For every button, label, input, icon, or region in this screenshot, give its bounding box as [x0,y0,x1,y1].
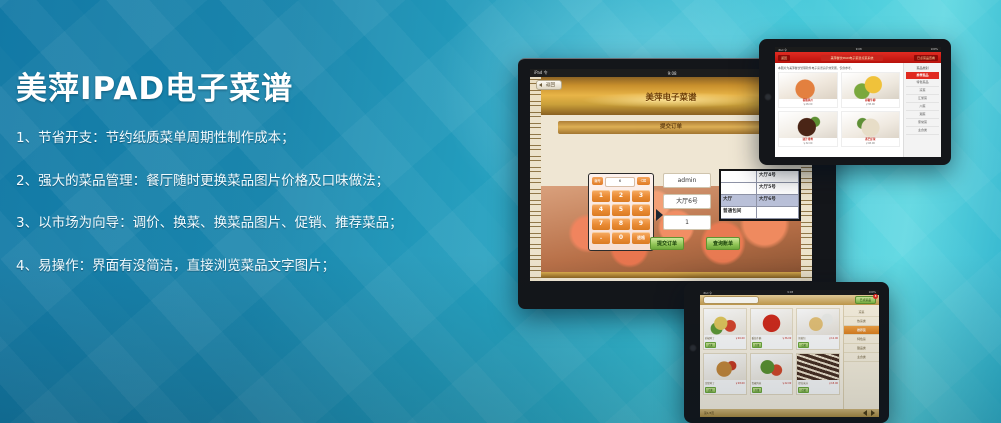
dish-card[interactable]: 彩椒鸡丁 ￥26.00 点菜 [703,308,747,350]
br-category-item-0[interactable]: 凉菜 [844,308,879,317]
br-category-item-3[interactable]: 特色菜 [844,335,879,344]
key-3[interactable]: 3 [632,190,650,202]
main-tablet-device: iPad 令 9:08 100% 返回 美萍电子菜谱 提交订单 编号 6 [518,58,836,309]
add-dish-button[interactable]: 点菜 [798,387,809,393]
add-dish-button[interactable]: 点菜 [705,342,716,348]
dish-image [751,354,793,380]
table-row-name[interactable]: 大厅4号 [757,171,799,183]
cart-label: 已点菜品 [860,298,871,302]
dish-card[interactable]: 提拉米苏 ￥18.00 点菜 [796,353,840,395]
home-button[interactable] [689,344,697,352]
key-dot[interactable]: . [592,232,610,244]
dish-price: ￥18.00 [829,381,838,385]
pointer-arrow-icon [656,209,663,221]
add-dish-button[interactable]: 点菜 [705,387,716,393]
tr-content: 本图片为美萍餐饮管理软件电子菜谱演示效果图，仅供参考。 香辣凤爪 ￥28.00 … [775,63,941,157]
dish-name: 番茄牛腩 [752,336,762,340]
dish-price: ￥32.00 [779,142,837,146]
app-title: 美萍电子菜谱 [530,91,812,103]
tr-category-item-6[interactable]: 家常菜 [906,119,939,127]
tr-dish-grid: 香辣凤爪 ￥28.00 彩椒牛柳 ￥38.00 豉汁排骨 ￥32.00 [778,72,900,147]
tr-note-text: 本图片为美萍餐饮管理软件电子菜谱演示效果图，仅供参考。 [778,66,900,70]
br-pager-bar: 第1/3页 [700,409,879,417]
dish-card[interactable]: 青椒肉丝 ￥22.00 点菜 [750,353,794,395]
cart-badge: 3 [873,294,878,299]
dish-action-row: 点菜 [751,386,793,394]
dish-image [842,112,900,138]
key-9[interactable]: 9 [632,218,650,230]
table-row-name[interactable]: 大厅5号 [757,183,799,195]
keypad-grid: 1 2 3 4 5 6 7 8 9 . 0 退格 [592,190,650,244]
br-dish-area: 彩椒鸡丁 ￥26.00 点菜 番茄牛腩 ￥36.00 [700,305,843,410]
dish-action-row: 点菜 [751,341,793,349]
tr-category-item-7[interactable]: 主食类 [906,127,939,135]
sub-header-label: 提交订单 [558,121,784,134]
dish-action-row: 点菜 [797,386,839,394]
br-category-sidebar: 凉菜 热菜类 推荐菜 特色菜 甜品类 主食类 [843,305,879,410]
dish-image [704,354,746,380]
tr-dish-area: 本图片为美萍餐饮管理软件电子菜谱演示效果图，仅供参考。 香辣凤爪 ￥28.00 … [775,63,903,157]
tr-category-item-0[interactable]: 推荐菜品 [906,72,939,79]
next-page-icon[interactable] [871,410,875,416]
status-battery: 100% [931,48,938,51]
photo-frame-bottom [541,272,801,278]
table-selection-grid[interactable]: 大厅4号 大厅5号 大厅 大厅6号 普通包间 [719,169,801,221]
br-toolbar: 已点菜品 3 [700,295,879,305]
add-dish-button[interactable]: 点菜 [752,342,763,348]
dish-image [842,73,900,99]
keypad-label: 编号 [592,177,603,185]
tr-category-item-1[interactable]: 特色菜品 [906,79,939,87]
tr-category-sidebar: 菜品类别 推荐菜品 特色菜品 凉菜 江浙菜 川菜 湘菜 家常菜 主食类 [903,63,941,157]
status-carrier: iPad 令 [534,70,548,76]
key-0[interactable]: 0 [612,232,630,244]
feature-bullet-2: 2、强大的菜品管理：餐厅随时更换菜品图片价格及口味做法； [16,175,436,189]
dish-image [751,309,793,335]
status-carrier: iPad 令 [778,48,787,52]
dish-image [704,309,746,335]
table-field[interactable]: 大厅6号 [663,194,711,209]
tr-category-item-3[interactable]: 江浙菜 [906,95,939,103]
user-field[interactable]: admin [663,173,711,188]
dish-price: ￥22.00 [782,381,791,385]
count-field[interactable]: 1 [663,215,711,230]
dish-card[interactable]: 奶黄包 ￥12.00 点菜 [796,308,840,350]
search-input[interactable] [703,296,759,304]
dish-name: 彩椒鸡丁 [705,336,715,340]
dish-price: ￥38.00 [842,103,900,107]
status-time: 9:08 [668,71,677,76]
action-buttons: 提交订单 查询账单 [650,237,800,250]
dish-card[interactable]: 宫保鸡丁 ￥28.00 点菜 [703,353,747,395]
dish-image [797,354,839,380]
key-1[interactable]: 1 [592,190,610,202]
table-row-area[interactable] [721,183,757,195]
add-dish-button[interactable]: 点菜 [798,342,809,348]
key-4[interactable]: 4 [592,204,610,216]
dish-price: ￥12.00 [829,336,838,340]
key-5[interactable]: 5 [612,204,630,216]
tr-category-item-5[interactable]: 湘菜 [906,111,939,119]
banner-stage: 美萍IPAD电子菜谱 1、节省开支：节约纸质菜单周期性制作成本； 2、强大的菜品… [0,0,1001,423]
br-content: 彩椒鸡丁 ￥26.00 点菜 番茄牛腩 ￥36.00 [700,305,879,410]
dish-action-row: 点菜 [704,341,746,349]
dish-price: ￥36.00 [782,336,791,340]
status-time: 9:08 [787,291,793,294]
tr-header-bar: 返回 美萍餐饮IPAD电子菜谱点菜系统 已点菜品查看 [775,52,941,63]
greek-key-border-left [530,77,541,281]
key-backspace[interactable]: 退格 [632,232,650,244]
dish-card[interactable]: 香芒虾球 ￥48.00 [841,111,901,147]
bottom-right-tablet-device: iPad 令 9:08 100% 已点菜品 3 彩椒鸡丁 [684,282,889,423]
br-category-item-1[interactable]: 热菜类 [844,317,879,326]
table-row-area[interactable]: 大厅 [721,195,757,207]
prev-page-icon[interactable] [863,410,867,416]
tr-sidebar-title: 菜品类别 [906,66,939,70]
key-8[interactable]: 8 [612,218,630,230]
main-tablet-screen: iPad 令 9:08 100% 返回 美萍电子菜谱 提交订单 编号 6 [530,69,812,281]
bottom-right-tablet-screen: iPad 令 9:08 100% 已点菜品 3 彩椒鸡丁 [700,290,879,417]
br-category-item-5[interactable]: 主食类 [844,353,879,362]
add-dish-button[interactable]: 点菜 [752,387,763,393]
br-category-item-2[interactable]: 推荐菜 [844,326,879,335]
br-dish-grid: 彩椒鸡丁 ￥26.00 点菜 番茄牛腩 ￥36.00 [703,308,840,395]
table-row-area[interactable]: 普通包间 [721,207,757,219]
dish-image [797,309,839,335]
status-time: 9:08 [856,48,862,51]
dish-card[interactable]: 彩椒牛柳 ￥38.00 [841,72,901,108]
numeric-keypad[interactable]: 编号 6 ⌫ 1 2 3 4 5 6 7 8 9 . [588,173,654,251]
submit-order-button[interactable]: 提交订单 [650,237,684,250]
tr-category-item-4[interactable]: 川菜 [906,103,939,111]
dish-name: 宫保鸡丁 [705,381,715,385]
marketing-copy: 美萍IPAD电子菜谱 1、节省开支：节约纸质菜单周期性制作成本； 2、强大的菜品… [16,72,436,302]
dish-price: ￥28.00 [735,381,744,385]
key-7[interactable]: 7 [592,218,610,230]
table-row-name[interactable] [757,207,799,219]
dish-price: ￥26.00 [735,336,744,340]
page-indicator: 第1/3页 [704,411,714,415]
dish-action-row: 点菜 [704,386,746,394]
keypad-input[interactable]: 6 [605,177,635,187]
table-row-area[interactable] [721,171,757,183]
key-2[interactable]: 2 [612,190,630,202]
back-button[interactable]: 返回 [536,80,562,90]
br-category-item-4[interactable]: 甜品类 [844,344,879,353]
tr-ordered-button[interactable]: 已点菜品查看 [914,55,938,61]
dish-name: 奶黄包 [798,336,805,340]
status-carrier: iPad 令 [703,291,712,295]
dish-action-row: 点菜 [797,341,839,349]
table-row-name[interactable]: 大厅6号 [757,195,799,207]
tr-back-button[interactable]: 返回 [778,55,790,61]
dish-card[interactable]: 豉汁排骨 ￥32.00 [778,111,838,147]
tr-category-item-2[interactable]: 凉菜 [906,87,939,95]
feature-bullet-3: 3、以市场为向导：调价、换菜、换菜品图片、促销、推荐菜品； [16,217,436,231]
dish-image [779,112,837,138]
dish-name: 青椒肉丝 [752,381,762,385]
page-title: 美萍IPAD电子菜谱 [16,72,436,106]
dish-name: 提拉米苏 [798,381,808,385]
feature-bullet-4: 4、易操作：界面有没简洁，直接浏览菜品文字图片； [16,260,436,274]
query-bill-button[interactable]: 查询账单 [706,237,740,250]
keypad-input-row: 编号 6 ⌫ [592,177,650,187]
key-6[interactable]: 6 [632,204,650,216]
dish-card[interactable]: 番茄牛腩 ￥36.00 点菜 [750,308,794,350]
dish-price: ￥28.00 [779,103,837,107]
sub-header-bar: 提交订单 [558,121,784,134]
dish-price: ￥48.00 [842,142,900,146]
cart-button[interactable]: 已点菜品 3 [855,296,876,304]
keypad-delete-icon[interactable]: ⌫ [637,177,650,185]
tr-header-title: 美萍餐饮IPAD电子菜谱点菜系统 [821,55,884,61]
feature-bullet-1: 1、节省开支：节约纸质菜单周期性制作成本； [16,132,436,146]
form-fields: admin 大厅6号 1 [663,173,711,236]
